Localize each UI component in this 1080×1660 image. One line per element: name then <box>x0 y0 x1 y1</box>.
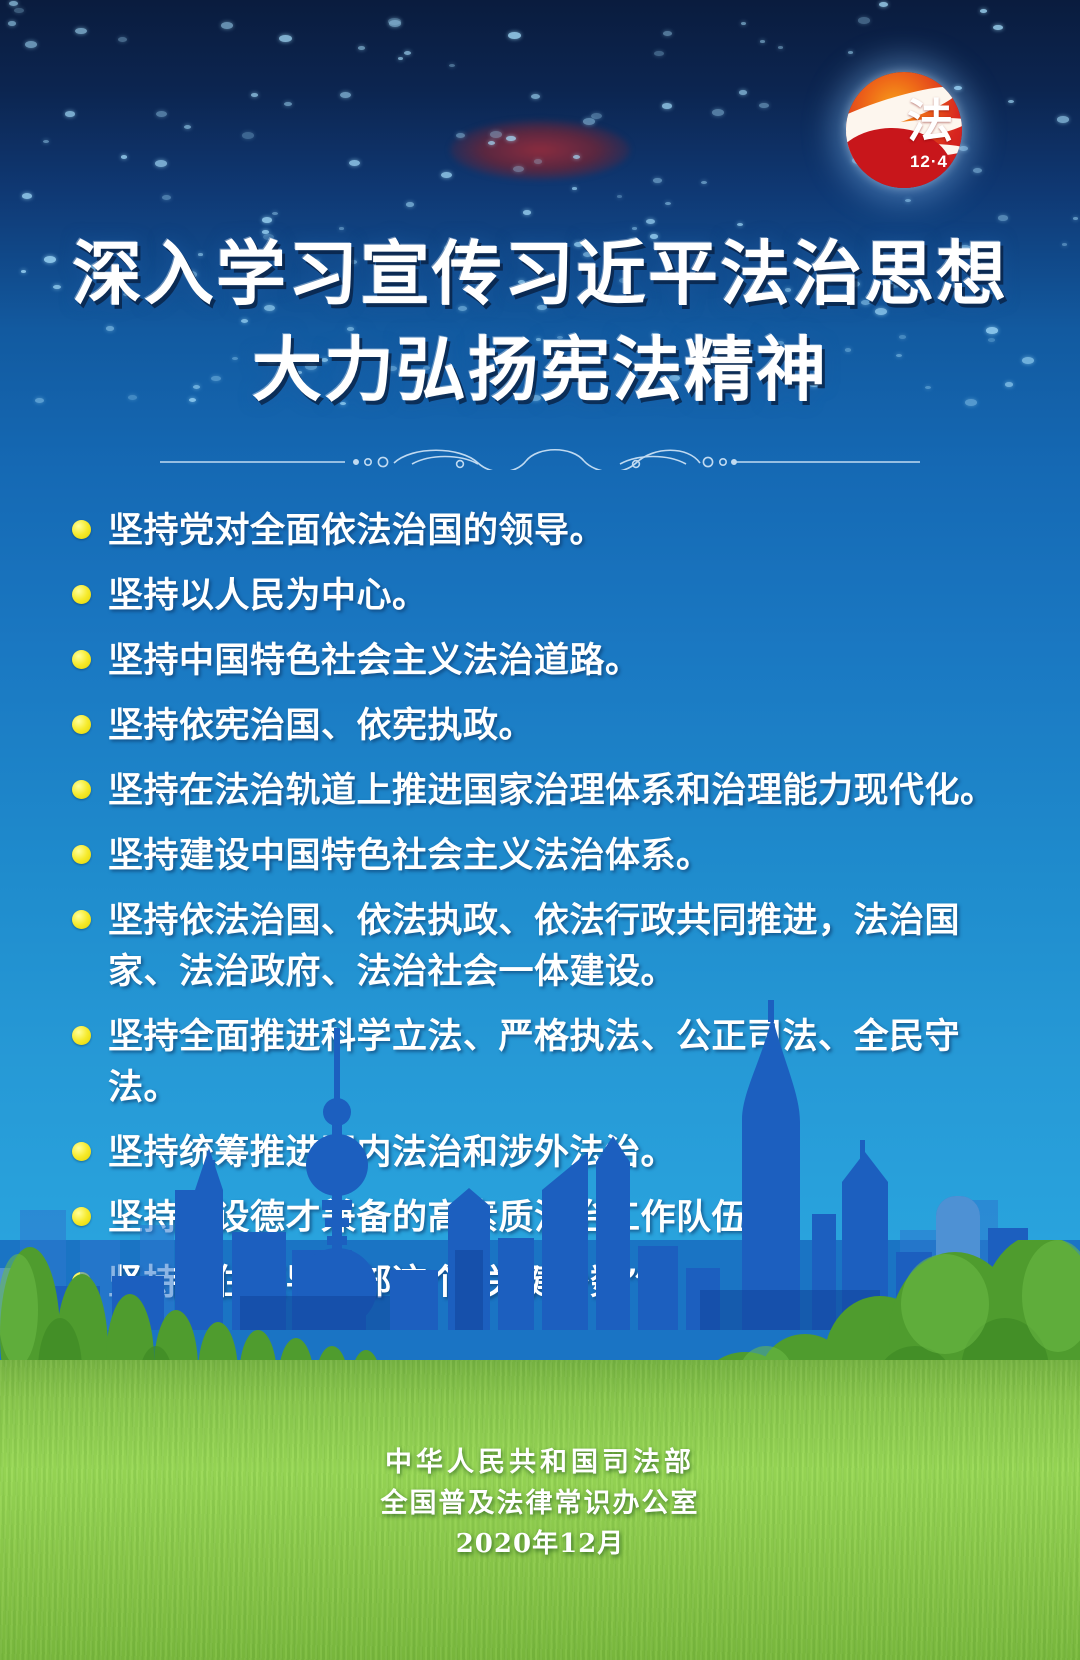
principle-text: 坚持建设中国特色社会主义法治体系。 <box>108 830 712 881</box>
star-dot-icon <box>572 187 577 190</box>
star-dot-icon <box>156 111 167 117</box>
star-dot-icon <box>404 51 411 55</box>
star-dot-icon <box>973 168 982 173</box>
star-dot-icon <box>284 102 292 106</box>
principle-item: 坚持党对全面依法治国的领导。 <box>72 505 1020 556</box>
bullet-dot-icon <box>72 520 91 539</box>
principle-item: 坚持建设中国特色社会主义法治体系。 <box>72 830 1020 881</box>
star-dot-icon <box>272 212 278 215</box>
principle-text: 坚持中国特色社会主义法治道路。 <box>108 635 641 686</box>
star-dot-icon <box>653 178 662 183</box>
star-dot-icon <box>663 31 672 36</box>
footer-organization: 中华人民共和国司法部 <box>0 1442 1080 1483</box>
logo-fa-character: 法 <box>907 98 953 144</box>
star-dot-icon <box>506 136 516 141</box>
star-dot-icon <box>406 202 414 207</box>
star-dot-icon <box>523 210 531 215</box>
star-dot-icon <box>22 193 32 199</box>
star-dot-icon <box>513 166 524 172</box>
poster-title: 深入学习宣传习近平法治思想 大力弘扬宪法精神 <box>0 226 1080 418</box>
star-dot-icon <box>279 35 292 42</box>
principle-text: 坚持党对全面依法治国的领导。 <box>108 505 605 556</box>
star-dot-icon <box>14 8 24 13</box>
star-dot-icon <box>75 28 87 34</box>
star-dot-icon <box>349 160 360 166</box>
star-dot-icon <box>778 46 783 49</box>
star-dot-icon <box>905 199 911 202</box>
star-dot-icon <box>879 2 888 7</box>
bullet-dot-icon <box>72 780 91 799</box>
bullet-dot-icon <box>72 910 91 929</box>
star-dot-icon <box>848 51 853 54</box>
star-dot-icon <box>534 159 542 164</box>
star-dot-icon <box>760 40 765 43</box>
star-dot-icon <box>998 215 1008 221</box>
star-dot-icon <box>573 155 580 159</box>
star-dot-icon <box>162 195 171 200</box>
star-dot-icon <box>1073 217 1078 220</box>
star-dot-icon <box>456 133 465 138</box>
star-dot-icon <box>118 37 127 42</box>
principle-text: 坚持依法治国、依法执政、依法行政共同推进，法治国家、法治政府、法治社会一体建设。 <box>108 895 1020 997</box>
star-dot-icon <box>184 125 191 129</box>
star-dot-icon <box>531 94 540 99</box>
star-dot-icon <box>449 64 455 67</box>
star-dot-icon <box>490 131 502 138</box>
national-constitution-day-logo: 法 12·4 <box>846 72 962 188</box>
bullet-dot-icon <box>72 585 91 604</box>
star-dot-icon <box>9 1 18 6</box>
star-dot-icon <box>858 17 870 24</box>
bullet-dot-icon <box>72 650 91 669</box>
principle-item: 坚持依宪治国、依宪执政。 <box>72 700 1020 751</box>
principle-text: 坚持依宪治国、依宪执政。 <box>108 700 534 751</box>
star-dot-icon <box>617 195 622 198</box>
principle-item: 坚持中国特色社会主义法治道路。 <box>72 635 1020 686</box>
star-dot-icon <box>662 103 672 109</box>
star-dot-icon <box>646 219 655 224</box>
star-dot-icon <box>262 217 272 223</box>
star-dot-icon <box>398 57 403 60</box>
star-dot-icon <box>654 51 664 56</box>
star-dot-icon <box>43 140 49 143</box>
title-line-2: 大力弘扬宪法精神 <box>0 322 1080 418</box>
star-dot-icon <box>25 41 37 48</box>
bullet-dot-icon <box>72 715 91 734</box>
star-dot-icon <box>8 21 16 26</box>
ornamental-divider <box>0 440 1080 470</box>
title-line-1: 深入学习宣传习近平法治思想 <box>0 226 1080 322</box>
principle-item: 坚持在法治轨道上推进国家治理体系和治理能力现代化。 <box>72 765 1020 816</box>
footer-credits: 中华人民共和国司法部 全国普及法律常识办公室 2020年12月 <box>0 1442 1080 1564</box>
star-dot-icon <box>1008 100 1014 103</box>
principle-item: 坚持以人民为中心。 <box>72 570 1020 621</box>
bullet-dot-icon <box>72 845 91 864</box>
star-dot-icon <box>712 109 724 116</box>
footer-date: 2020年12月 <box>0 1524 1080 1564</box>
footer-office: 全国普及法律常识办公室 <box>0 1483 1080 1524</box>
star-dot-icon <box>508 32 521 39</box>
star-dot-icon <box>388 18 401 25</box>
star-dot-icon <box>701 181 707 184</box>
star-dot-icon <box>759 103 769 108</box>
star-dot-icon <box>488 141 495 145</box>
logo-date-label: 12·4 <box>910 152 948 172</box>
star-dot-icon <box>1057 116 1069 123</box>
star-dot-icon <box>340 92 351 98</box>
star-dot-icon <box>65 111 75 117</box>
star-dot-icon <box>441 172 452 178</box>
star-dot-icon <box>155 160 167 167</box>
star-dot-icon <box>665 202 671 205</box>
star-dot-icon <box>221 22 233 29</box>
principle-item: 坚持依法治国、依法执政、依法行政共同推进，法治国家、法治政府、法治社会一体建设。 <box>72 895 1020 997</box>
star-dot-icon <box>242 132 254 139</box>
star-dot-icon <box>980 9 987 13</box>
star-dot-icon <box>358 46 365 50</box>
star-dot-icon <box>739 90 747 95</box>
poster-root: 法 12·4 深入学习宣传习近平法治思想 大力弘扬宪法精神 <box>0 0 1080 1660</box>
star-dot-icon <box>583 118 595 125</box>
star-dot-icon <box>121 155 127 159</box>
principle-text: 坚持以人民为中心。 <box>108 570 428 621</box>
principle-text: 坚持在法治轨道上推进国家治理体系和治理能力现代化。 <box>108 765 996 816</box>
star-dot-icon <box>251 93 258 97</box>
star-dot-icon <box>741 22 746 25</box>
star-dot-icon <box>993 25 1003 30</box>
